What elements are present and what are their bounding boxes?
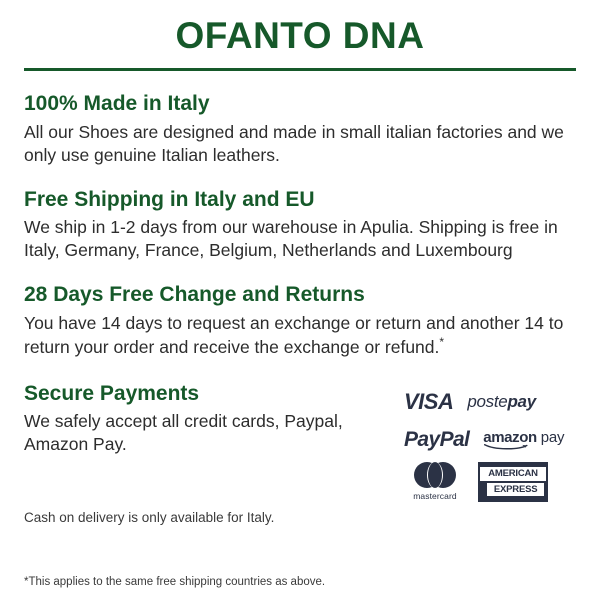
paypal-icon: PayPal bbox=[404, 429, 469, 450]
postepay-poste-text: poste bbox=[467, 392, 507, 411]
section-heading: Secure Payments bbox=[24, 381, 404, 407]
ofanto-dna-info-panel: OFANTO DNA 100% Made in Italy All our Sh… bbox=[0, 0, 600, 600]
section-heading: 100% Made in Italy bbox=[24, 91, 576, 117]
amazon-wordmark: amazon bbox=[483, 430, 536, 450]
section-body-text: You have 14 days to request an exchange … bbox=[24, 313, 563, 357]
mastercard-wordmark: mastercard bbox=[413, 492, 457, 501]
section-returns: 28 Days Free Change and Returns You have… bbox=[24, 282, 576, 358]
title-divider bbox=[24, 68, 576, 71]
visa-icon: VISA bbox=[404, 391, 453, 413]
payment-logo-row: VISA postepay bbox=[404, 383, 576, 421]
section-body: We ship in 1-2 days from our warehouse i… bbox=[24, 216, 564, 262]
mastercard-circles bbox=[414, 462, 456, 488]
section-heading: 28 Days Free Change and Returns bbox=[24, 282, 576, 308]
footnote-marker: * bbox=[439, 335, 444, 349]
payment-logo-row: mastercard AMERICAN EXPRESS bbox=[404, 459, 576, 505]
section-body: All our Shoes are designed and made in s… bbox=[24, 121, 564, 167]
section-free-shipping: Free Shipping in Italy and EU We ship in… bbox=[24, 187, 576, 262]
payment-logos-group: VISA postepay PayPal amazon pay bbox=[404, 381, 576, 505]
fine-print-note: *This applies to the same free shipping … bbox=[24, 575, 325, 590]
amazon-pay-text: pay bbox=[541, 430, 565, 445]
amazon-pay-icon: amazon pay bbox=[483, 430, 564, 450]
american-express-icon: AMERICAN EXPRESS bbox=[478, 462, 548, 502]
payment-logo-row: PayPal amazon pay bbox=[404, 421, 576, 459]
postepay-pay-text: pay bbox=[507, 392, 535, 411]
payments-copy: Secure Payments We safely accept all cre… bbox=[24, 381, 404, 456]
section-body: You have 14 days to request an exchange … bbox=[24, 312, 564, 359]
amazon-smile-arrow-icon bbox=[484, 444, 529, 450]
postepay-icon: postepay bbox=[467, 393, 536, 410]
cash-on-delivery-note: Cash on delivery is only available for I… bbox=[24, 505, 576, 527]
mastercard-icon: mastercard bbox=[404, 462, 466, 501]
section-body: We safely accept all credit cards, Paypa… bbox=[24, 410, 404, 456]
page-title: OFANTO DNA bbox=[24, 0, 576, 58]
amex-line-american: AMERICAN bbox=[480, 467, 546, 481]
section-heading: Free Shipping in Italy and EU bbox=[24, 187, 576, 213]
amex-line-express: EXPRESS bbox=[487, 483, 544, 497]
section-made-in-italy: 100% Made in Italy All our Shoes are des… bbox=[24, 91, 576, 166]
section-secure-payments: Secure Payments We safely accept all cre… bbox=[24, 381, 576, 505]
